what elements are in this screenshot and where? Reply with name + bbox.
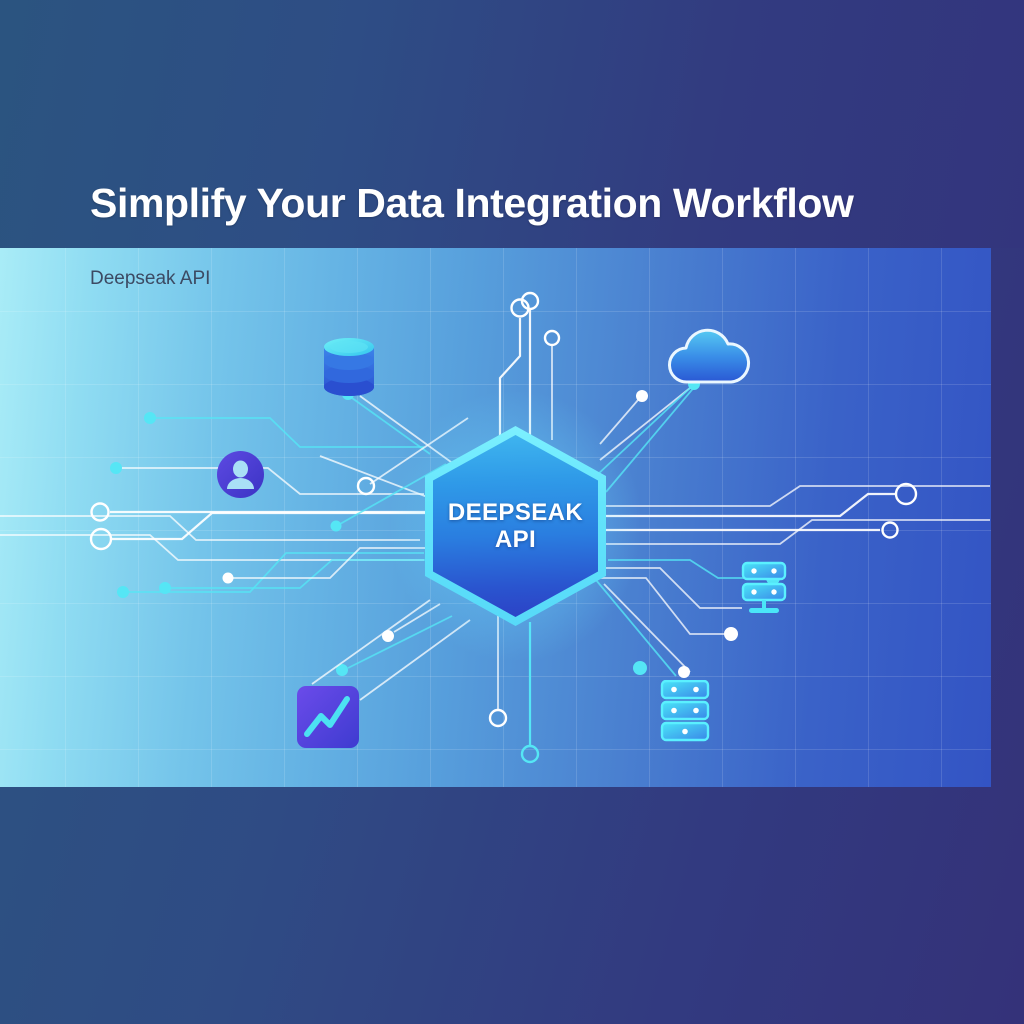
slide-canvas: Simplify Your Data Integration Workflow …	[0, 0, 1024, 1024]
central-hexagon-node[interactable]: DEEPSEAK API	[425, 426, 606, 626]
user-icon	[217, 451, 264, 498]
page-title: Simplify Your Data Integration Workflow	[90, 180, 853, 227]
hexagon-label-line2: API	[495, 526, 536, 553]
cloud-icon	[662, 324, 756, 388]
hexagon-label: DEEPSEAK API	[425, 426, 606, 626]
server-stack-icon	[658, 680, 714, 744]
database-icon	[322, 336, 376, 398]
server-icon-upper	[737, 561, 791, 615]
header-band: Simplify Your Data Integration Workflow	[0, 0, 1024, 248]
analytics-icon	[297, 686, 359, 748]
hexagon-label-line1: DEEPSEAK	[448, 499, 583, 526]
illustration-panel: Deepseak API .w { fill:none; stroke:#fff…	[0, 248, 991, 787]
